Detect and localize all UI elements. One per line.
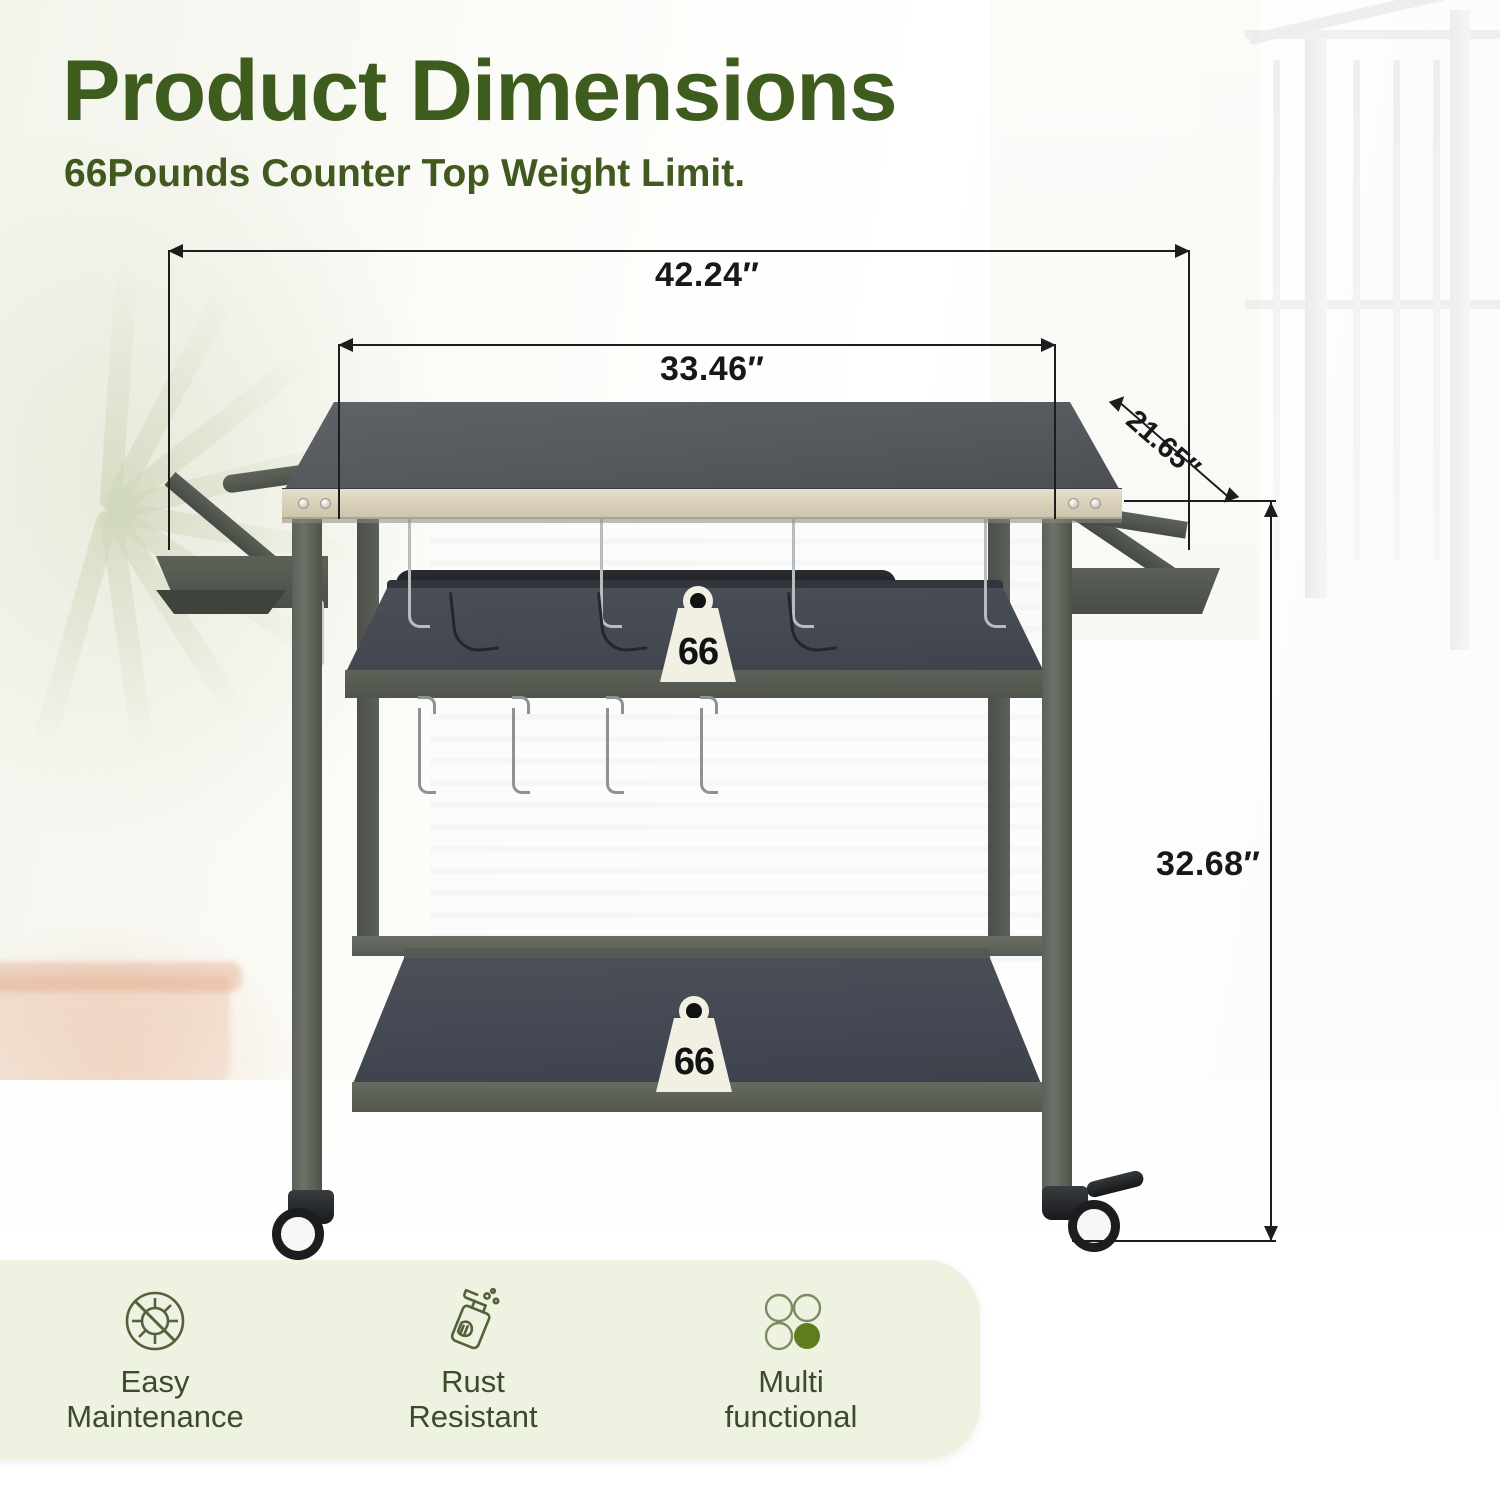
weight-value: 66 [674, 1029, 714, 1081]
leg-back-left [357, 500, 379, 940]
s-hook-lower-3 [606, 708, 624, 794]
extline-tabletop-right [1054, 344, 1056, 519]
weight-value: 66 [678, 619, 718, 671]
no-germ-circle-icon [119, 1285, 191, 1357]
product-illustration: 66 66 [0, 0, 1500, 1270]
extline-overall-left [168, 250, 170, 550]
spray-bottle-hand-icon [437, 1285, 509, 1357]
extline-tabletop-left [338, 344, 340, 519]
s-hook-lower-4 [700, 708, 718, 794]
feature-label: Multi functional [725, 1365, 858, 1434]
feature-label: Easy Maintenance [66, 1365, 244, 1434]
feature-rust-resistant: Rust Resistant [323, 1285, 623, 1434]
caster-wheel-front-right [1068, 1200, 1120, 1252]
dim-label-overall-width: 42.24″ [655, 256, 759, 295]
s-hook-lower-2 [512, 708, 530, 794]
weight-badge-middle-shelf: 66 [660, 586, 736, 682]
feature-multi-functional: Multi functional [641, 1285, 941, 1434]
wood-front-rail [282, 489, 1122, 519]
arrow-tabletop-width-left [338, 338, 353, 352]
extline-overall-right [1188, 250, 1190, 550]
dim-label-height: 32.68″ [1156, 845, 1260, 884]
feature-bar: Easy Maintenance Rust Resistant [0, 1260, 980, 1460]
feature-easy-maintenance: Easy Maintenance [5, 1285, 305, 1434]
arrow-height-bottom [1264, 1226, 1278, 1241]
s-hook-lower-1 [418, 708, 436, 794]
weight-ring-hole [686, 1003, 702, 1019]
weight-body: 66 [660, 608, 736, 682]
leg-front-right [1042, 494, 1072, 1210]
four-dots-grid-icon [755, 1285, 827, 1357]
countertop-surface [282, 402, 1122, 494]
dimline-overall-width [168, 250, 1190, 252]
wood-rail-shadow [282, 517, 1122, 523]
leg-front-left [292, 494, 322, 1210]
dimline-height [1270, 500, 1272, 1240]
arrow-overall-width-left [168, 244, 183, 258]
dimline-tabletop-width [338, 344, 1056, 346]
extline-height-bottom [1072, 1240, 1276, 1242]
s-hook-upper-4 [984, 512, 1006, 628]
caster-brake-lever-front-right [1085, 1169, 1145, 1199]
s-hook-upper-1 [408, 512, 430, 628]
weight-badge-bottom-shelf: 66 [656, 996, 732, 1092]
arrow-height-top [1264, 502, 1278, 517]
side-table-left-underside [156, 590, 286, 614]
feature-label: Rust Resistant [408, 1365, 537, 1434]
weight-ring-hole [690, 593, 706, 609]
weight-body: 66 [656, 1018, 732, 1092]
side-table-right [1072, 568, 1220, 614]
dim-label-tabletop-width: 33.46″ [660, 350, 764, 389]
extline-height-top [1124, 500, 1276, 502]
caster-wheel-front-left [272, 1208, 324, 1260]
